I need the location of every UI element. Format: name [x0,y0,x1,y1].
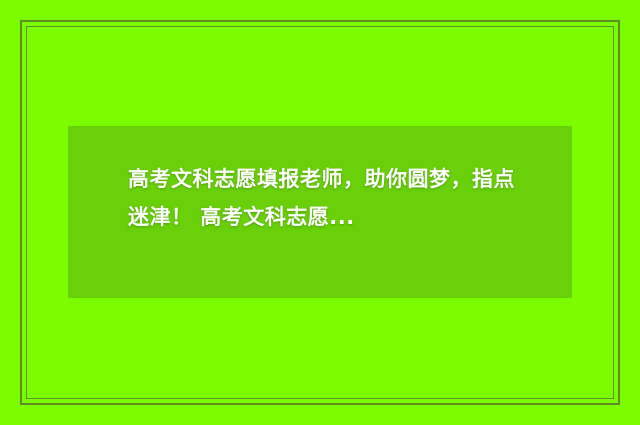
headline-panel: 高考文科志愿填报老师，助你圆梦，指点迷津！ 高考文科志愿... [68,126,572,298]
promo-banner: 高考文科志愿填报老师，助你圆梦，指点迷津！ 高考文科志愿... [0,0,640,425]
banner-headline: 高考文科志愿填报老师，助你圆梦，指点迷津！ 高考文科志愿... [128,160,516,236]
